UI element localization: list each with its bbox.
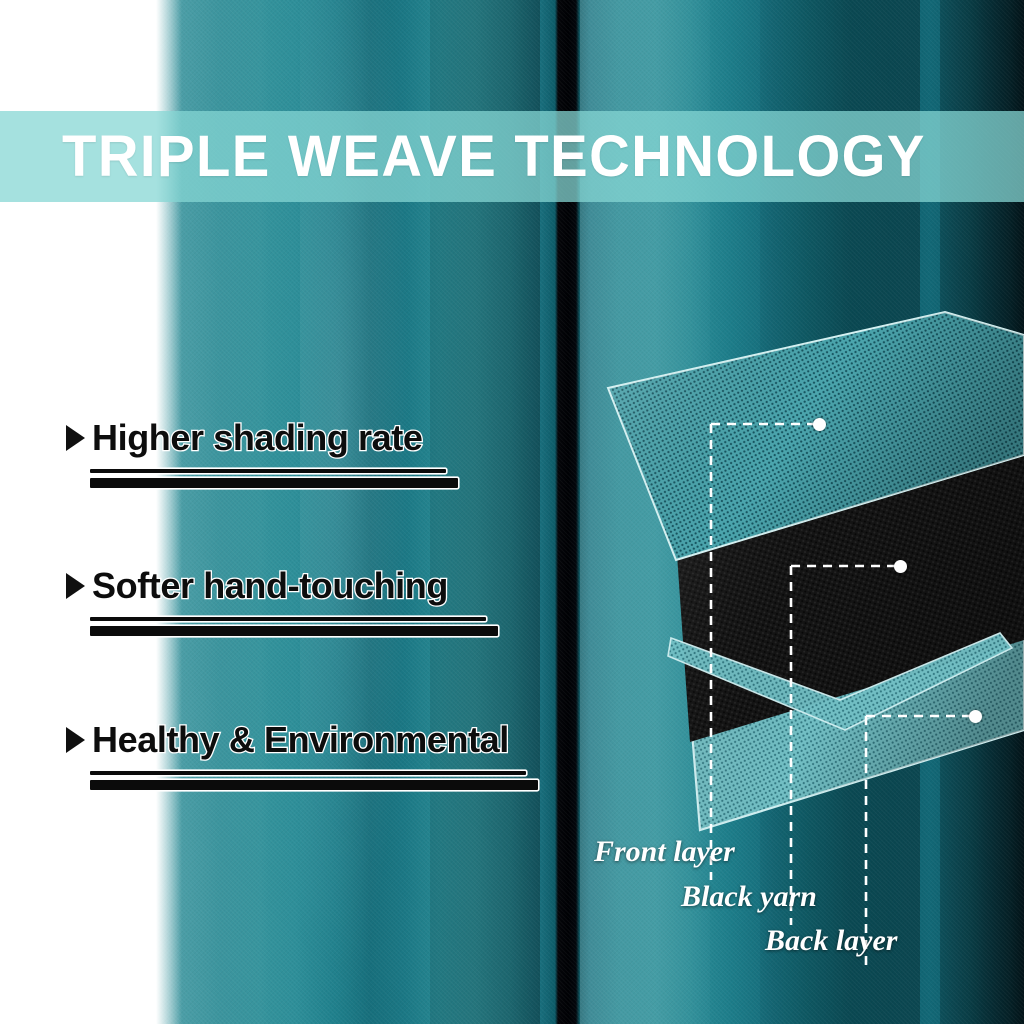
feature-label: Healthy & Environmental [92,720,509,760]
infographic-canvas: TRIPLE WEAVE TECHNOLOGY Higher shading r… [0,0,1024,1024]
feature-list: Higher shading rate Softer hand-touching… [0,0,1024,1024]
triangle-right-icon [66,573,85,599]
feature-item-softer-hand-touching: Softer hand-touching [66,566,498,636]
triangle-right-icon [66,727,85,753]
feature-underline [90,771,538,790]
feature-underline [90,469,458,488]
feature-label: Softer hand-touching [92,566,448,606]
feature-label: Higher shading rate [92,418,422,458]
feature-underline-thick [90,626,498,636]
feature-underline [90,617,498,636]
triangle-right-icon [66,425,85,451]
feature-item-healthy-environmental: Healthy & Environmental [66,720,538,790]
feature-underline-thick [90,478,458,488]
feature-underline-thin [90,771,526,775]
feature-underline-thin [90,469,446,473]
feature-item-higher-shading-rate: Higher shading rate [66,418,458,488]
feature-underline-thin [90,617,486,621]
feature-underline-thick [90,780,538,790]
